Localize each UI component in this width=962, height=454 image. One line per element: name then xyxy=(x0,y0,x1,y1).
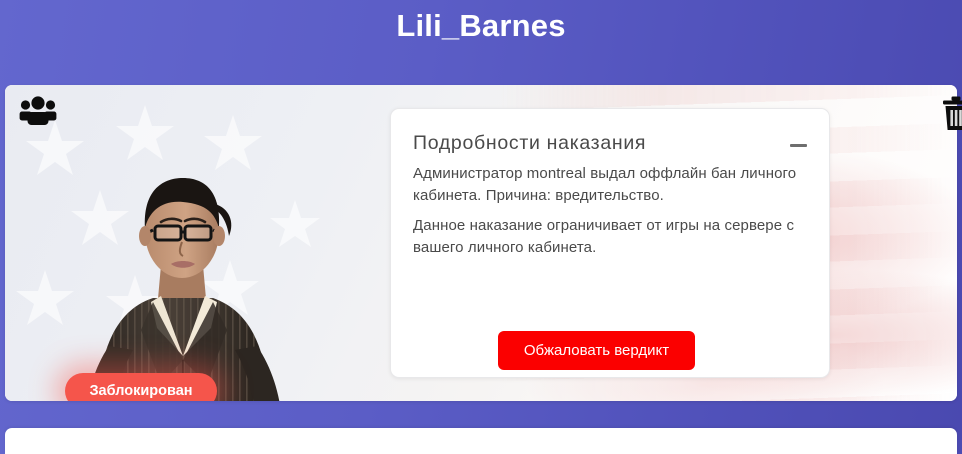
punishment-scope-text: Данное наказание ограничивает от игры на… xyxy=(413,215,811,258)
punishment-reason-text: Администратор montreal выдал оффлайн бан… xyxy=(413,163,811,206)
detail-card-body: Администратор montreal выдал оффлайн бан… xyxy=(413,163,811,267)
detail-card-header: Подробности наказания xyxy=(413,131,807,155)
punishment-detail-card: Подробности наказания Администратор mont… xyxy=(390,108,830,378)
app-root: Lili_Barnes xyxy=(0,0,962,440)
users-group-icon[interactable] xyxy=(17,96,59,130)
appeal-verdict-button[interactable]: Обжаловать вердикт xyxy=(498,331,695,370)
page-title: Lili_Barnes xyxy=(396,9,565,43)
page-header: Lili_Barnes xyxy=(0,0,962,85)
flag-stars-decoration xyxy=(5,85,335,401)
detail-card-title: Подробности наказания xyxy=(413,131,646,155)
status-badge-label: Заблокирован xyxy=(89,383,192,399)
minus-collapse-icon[interactable] xyxy=(790,144,807,147)
secondary-card xyxy=(5,428,957,454)
status-badge-blocked: Заблокирован xyxy=(65,373,217,401)
trash-delete-icon[interactable] xyxy=(941,96,962,132)
